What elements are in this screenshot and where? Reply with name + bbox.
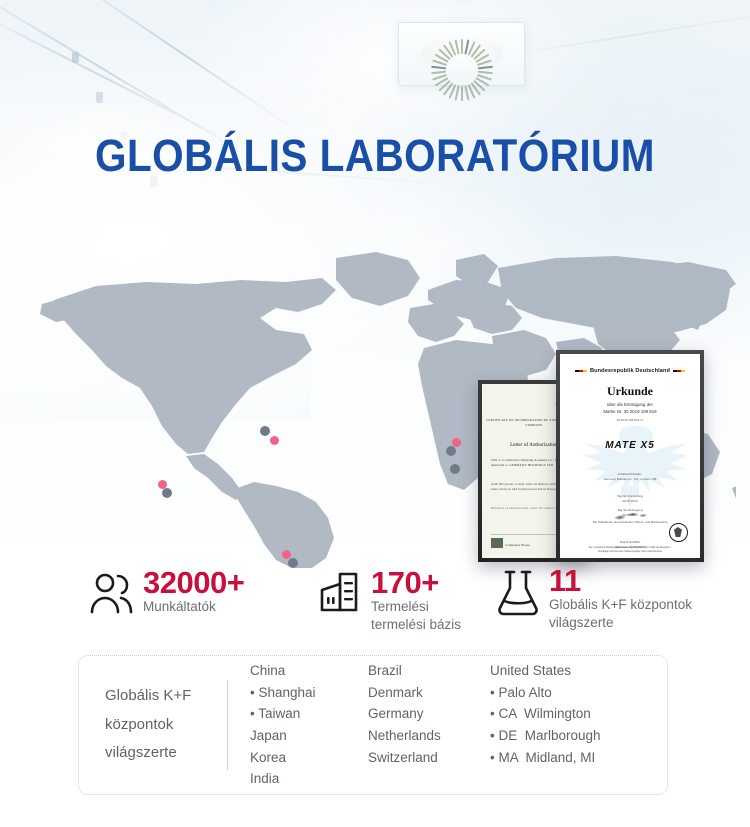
list-item: • MA Midland, MI xyxy=(490,747,601,769)
promo-banner: GLOBÁLIS LABORATÓRIUM CERTIFICATE OF INC… xyxy=(0,0,750,827)
certificate-de-subtitle: über die Eintragung der Marke Nr. 30 201… xyxy=(560,402,700,415)
rnd-column-asia: China • Shanghai • Taiwan Japan Korea In… xyxy=(250,660,368,790)
certificate-uk-registrar: Companies House xyxy=(505,543,530,547)
certificate-de-holder: Inhaberin/Inhaber: Germany Bolanis Co., … xyxy=(560,472,700,482)
list-item: Korea xyxy=(250,747,368,769)
marker-usa-east-shadow xyxy=(260,426,270,436)
certificate-de-number: 30 2019 108 819-17 xyxy=(560,418,700,422)
certificate-germany: Bundesrepublik Deutschland Urkunde über … xyxy=(556,350,704,562)
certificate-images: CERTIFICATE OF INCORPORATION OF A PRIVAT… xyxy=(478,350,738,565)
rnd-column-usa-heading: United States xyxy=(490,660,601,682)
list-item: Japan xyxy=(250,725,368,747)
flask-icon xyxy=(496,568,540,621)
list-item: • Palo Alto xyxy=(490,682,601,704)
list-item: • DE Marlborough xyxy=(490,725,601,747)
companies-house-logo-icon xyxy=(491,538,503,548)
page-title: GLOBÁLIS LABORATÓRIUM xyxy=(38,130,713,182)
list-item: • Taiwan xyxy=(250,703,368,725)
certificate-de-footnote: Der vorstehend Wiedergegebene Auszug ent… xyxy=(560,546,700,554)
statistics-row: 32000+ Munkáltatók xyxy=(0,568,750,646)
list-item: India xyxy=(250,768,368,790)
marker-mexico-shadow xyxy=(162,488,172,498)
stat-production-bases: 170+ Termelési termelési bázis xyxy=(318,568,461,634)
marker-n-africa-shadow xyxy=(450,464,460,474)
flag-bar-left-icon xyxy=(575,370,587,372)
official-seal-icon xyxy=(669,523,688,542)
ceiling-light-icon xyxy=(398,22,525,86)
people-icon xyxy=(88,570,134,621)
certificate-de-title: Urkunde xyxy=(560,384,700,399)
stat-rnd-number: 11 xyxy=(549,563,581,598)
rnd-column-europe-heading: Brazil xyxy=(368,660,490,682)
rnd-column-usa: United States • Palo Alto • CA Wilmingto… xyxy=(490,660,601,790)
stat-employees-label: Munkáltatók xyxy=(143,599,216,614)
marker-usa-east xyxy=(270,436,279,445)
rnd-centers-box: Globális K+F központok világszerte China… xyxy=(78,655,668,795)
rnd-column-asia-heading: China xyxy=(250,660,368,682)
stat-production-label: Termelési termelési bázis xyxy=(371,599,461,632)
list-item: Netherlands xyxy=(368,725,490,747)
stat-employees-number: 32000+ xyxy=(143,565,244,600)
list-item: Switzerland xyxy=(368,747,490,769)
stat-rnd-label: Globális K+F központok világszerte xyxy=(549,597,692,630)
list-item: • CA Wilmington xyxy=(490,703,601,725)
list-item: • Shanghai xyxy=(250,682,368,704)
factory-icon xyxy=(318,570,362,619)
stat-production-number: 170+ xyxy=(371,565,439,600)
stat-rnd-centers: 11 Globális K+F központok világszerte xyxy=(496,566,692,632)
certificate-de-header: Bundesrepublik Deutschland xyxy=(560,368,700,374)
list-item: Germany xyxy=(368,703,490,725)
marker-brazil-shadow xyxy=(288,558,298,568)
vertical-divider xyxy=(227,680,228,770)
marker-europe-shadow xyxy=(446,446,456,456)
rnd-box-label: Globális K+F központok világszerte xyxy=(105,682,227,768)
rnd-column-europe: Brazil Denmark Germany Netherlands Switz… xyxy=(368,660,490,790)
certificate-de-brand: MATE X5 xyxy=(560,440,700,451)
flag-bar-right-icon xyxy=(673,370,685,372)
list-item: Denmark xyxy=(368,682,490,704)
stat-employees: 32000+ Munkáltatók xyxy=(88,568,244,621)
